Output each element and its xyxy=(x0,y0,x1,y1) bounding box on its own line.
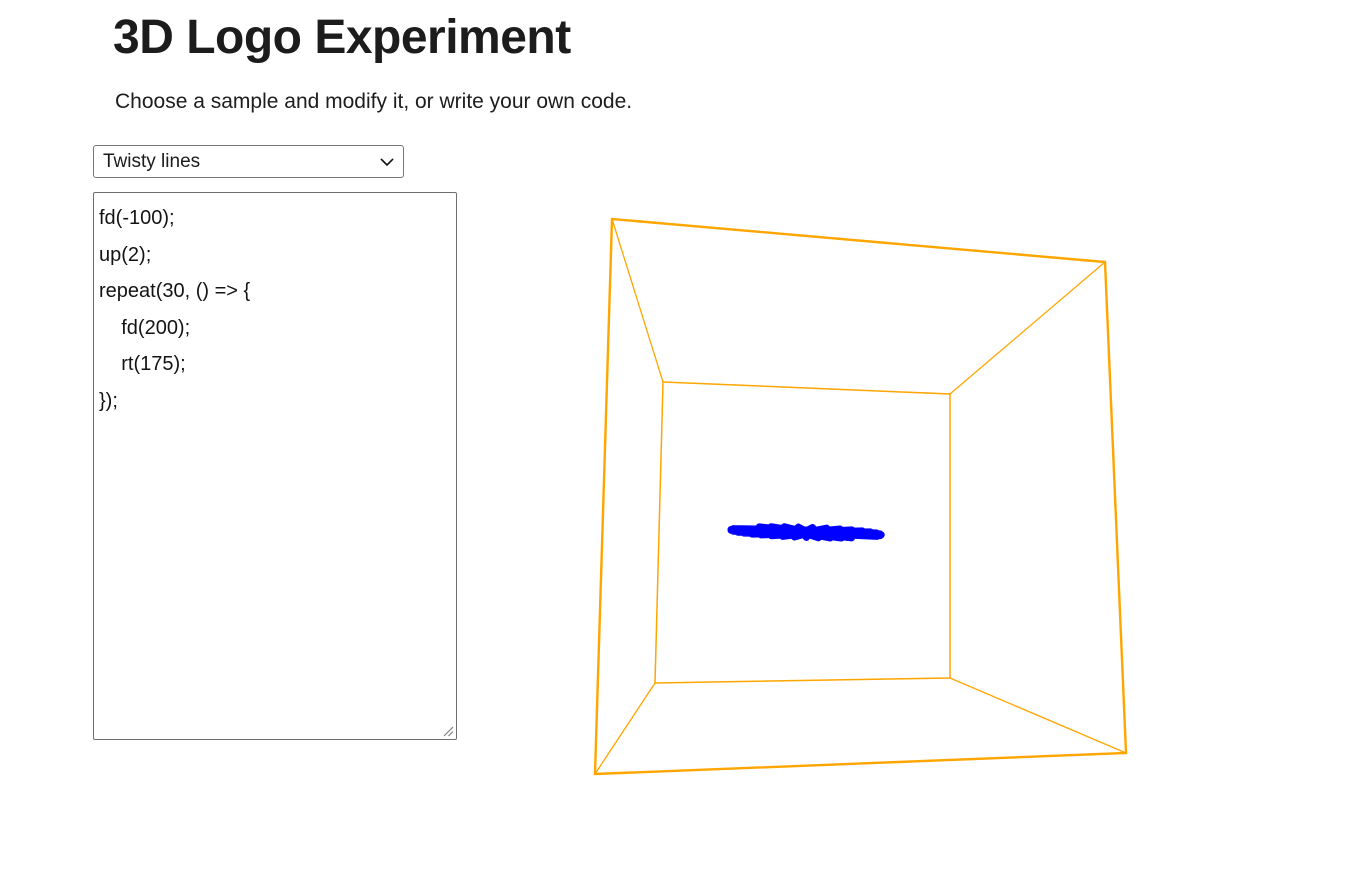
code-editor-text[interactable]: fd(-100); up(2); repeat(30, () => { fd(2… xyxy=(94,193,456,419)
app-root: 3D Logo Experiment Choose a sample and m… xyxy=(0,0,1355,888)
turtle-drawing xyxy=(731,527,881,538)
sample-select[interactable]: Twisty lines xyxy=(93,145,404,178)
scene-svg xyxy=(540,180,1190,800)
code-editor[interactable]: fd(-100); up(2); repeat(30, () => { fd(2… xyxy=(93,192,457,740)
page-title: 3D Logo Experiment xyxy=(113,6,571,70)
sample-select-wrapper[interactable]: Twisty lines xyxy=(93,145,404,178)
page-subtitle: Choose a sample and modify it, or write … xyxy=(115,88,632,116)
3d-bounding-box xyxy=(595,219,1126,774)
resize-grip-icon[interactable] xyxy=(440,723,454,737)
chevron-down-icon xyxy=(379,154,395,170)
sample-select-value: Twisty lines xyxy=(103,151,379,173)
render-viewport xyxy=(540,180,1190,800)
